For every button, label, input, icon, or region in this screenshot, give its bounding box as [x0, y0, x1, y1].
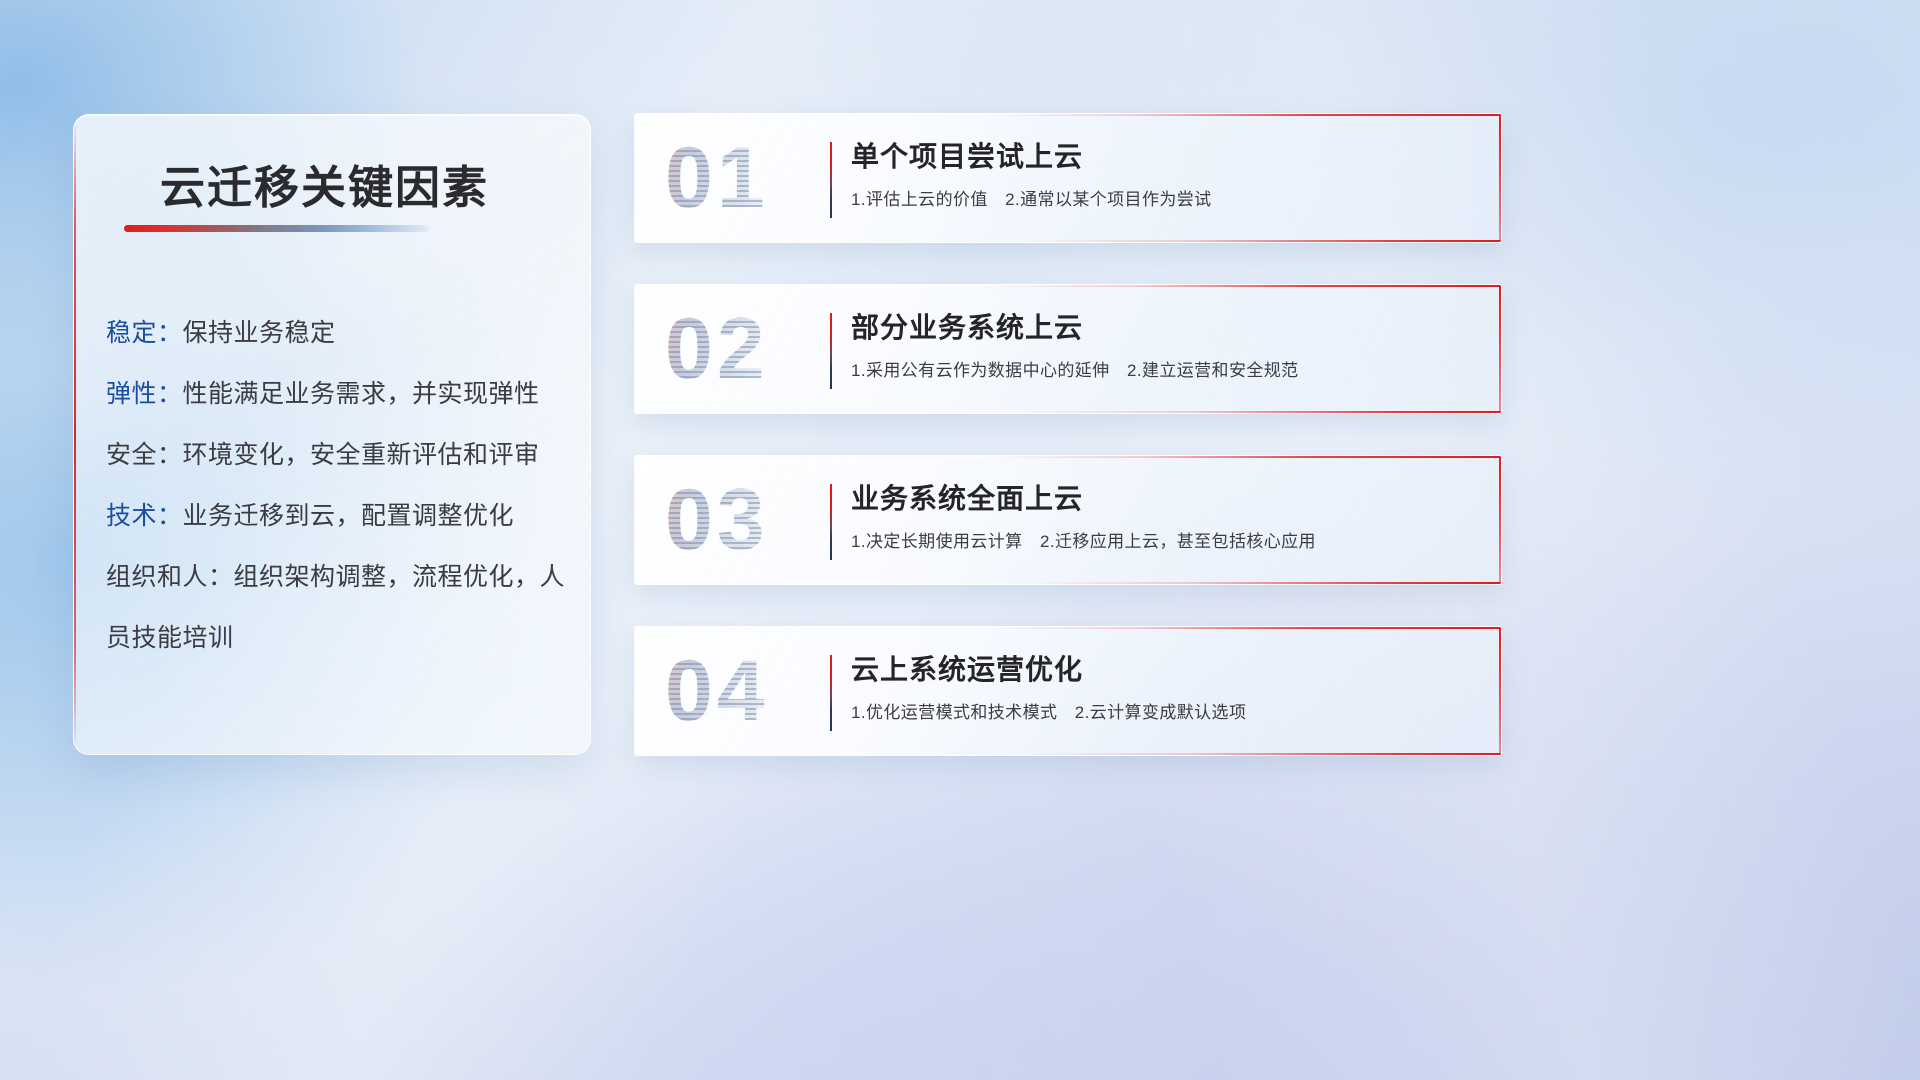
step-description: 1.优化运营模式和技术模式 2.云计算变成默认选项 [851, 701, 1477, 725]
factor-label: 安全： [106, 441, 183, 469]
page-title: 云迁移关键因素 [160, 151, 489, 216]
step-divider-bar [830, 142, 832, 218]
factor-list: 稳定：保持业务稳定 弹性：性能满足业务需求，并实现弹性 安全：环境变化，安全重新… [106, 303, 572, 669]
factor-text: 业务迁移到云，配置调整优化 [183, 502, 515, 530]
step-heading: 云上系统运营优化 [851, 651, 1477, 689]
factor-row: 稳定：保持业务稳定 [106, 303, 572, 364]
step-card[interactable]: 02 部分业务系统上云 1.采用公有云作为数据中心的延伸 2.建立运营和安全规范 [634, 284, 1502, 414]
step-heading: 单个项目尝试上云 [851, 138, 1477, 176]
step-divider-bar [830, 313, 832, 389]
factor-label: 技术： [106, 502, 183, 530]
step-content: 单个项目尝试上云 1.评估上云的价值 2.通常以某个项目作为尝试 [851, 138, 1477, 212]
card-right-accent [1499, 456, 1501, 584]
step-divider-bar [830, 655, 832, 731]
slide-stage: 云迁移关键因素 稳定：保持业务稳定 弹性：性能满足业务需求，并实现弹性 安全：环… [0, 0, 1920, 1080]
step-number-glyph: 03 [665, 477, 769, 563]
factor-label: 弹性： [106, 380, 183, 408]
factor-text: 性能满足业务需求，并实现弹性 [183, 380, 540, 408]
card-right-accent [1499, 285, 1501, 413]
step-card[interactable]: 03 业务系统全面上云 1.决定长期使用云计算 2.迁移应用上云，甚至包括核心应… [634, 455, 1502, 585]
card-bottom-accent [635, 753, 1501, 755]
step-number-glyph: 01 [665, 135, 769, 221]
step-content: 部分业务系统上云 1.采用公有云作为数据中心的延伸 2.建立运营和安全规范 [851, 309, 1477, 383]
card-bottom-accent [635, 240, 1501, 242]
factor-row: 安全：环境变化，安全重新评估和评审 [106, 425, 572, 486]
step-number-glyph: 02 [665, 306, 769, 392]
factor-label: 组织和人： [106, 563, 234, 591]
step-description: 1.决定长期使用云计算 2.迁移应用上云，甚至包括核心应用 [851, 530, 1477, 554]
card-right-accent [1499, 114, 1501, 242]
panel-red-accent-bar [74, 123, 76, 746]
card-right-accent [1499, 627, 1501, 755]
step-card[interactable]: 04 云上系统运营优化 1.优化运营模式和技术模式 2.云计算变成默认选项 [634, 626, 1502, 756]
step-description: 1.评估上云的价值 2.通常以某个项目作为尝试 [851, 188, 1477, 212]
step-content: 业务系统全面上云 1.决定长期使用云计算 2.迁移应用上云，甚至包括核心应用 [851, 480, 1477, 554]
factor-row: 技术：业务迁移到云，配置调整优化 [106, 486, 572, 547]
factor-row: 组织和人：组织架构调整，流程优化，人员技能培训 [106, 547, 572, 669]
step-heading: 业务系统全面上云 [851, 480, 1477, 518]
factor-row: 弹性：性能满足业务需求，并实现弹性 [106, 364, 572, 425]
step-card[interactable]: 01 单个项目尝试上云 1.评估上云的价值 2.通常以某个项目作为尝试 [634, 113, 1502, 243]
factor-label: 稳定： [106, 319, 183, 347]
card-top-accent [635, 627, 1501, 629]
card-top-accent [635, 456, 1501, 458]
step-number-glyph: 04 [665, 648, 769, 734]
factor-text: 保持业务稳定 [183, 319, 336, 347]
step-heading: 部分业务系统上云 [851, 309, 1477, 347]
card-bottom-accent [635, 582, 1501, 584]
migration-steps-list: 01 单个项目尝试上云 1.评估上云的价值 2.通常以某个项目作为尝试 02 部… [634, 113, 1502, 797]
step-content: 云上系统运营优化 1.优化运营模式和技术模式 2.云计算变成默认选项 [851, 651, 1477, 725]
factor-text: 环境变化，安全重新评估和评审 [183, 441, 540, 469]
card-bottom-accent [635, 411, 1501, 413]
card-top-accent [635, 285, 1501, 287]
key-factors-panel: 云迁移关键因素 稳定：保持业务稳定 弹性：性能满足业务需求，并实现弹性 安全：环… [73, 114, 591, 755]
step-divider-bar [830, 484, 832, 560]
card-top-accent [635, 114, 1501, 116]
title-gradient-rule [124, 225, 429, 232]
step-description: 1.采用公有云作为数据中心的延伸 2.建立运营和安全规范 [851, 359, 1477, 383]
